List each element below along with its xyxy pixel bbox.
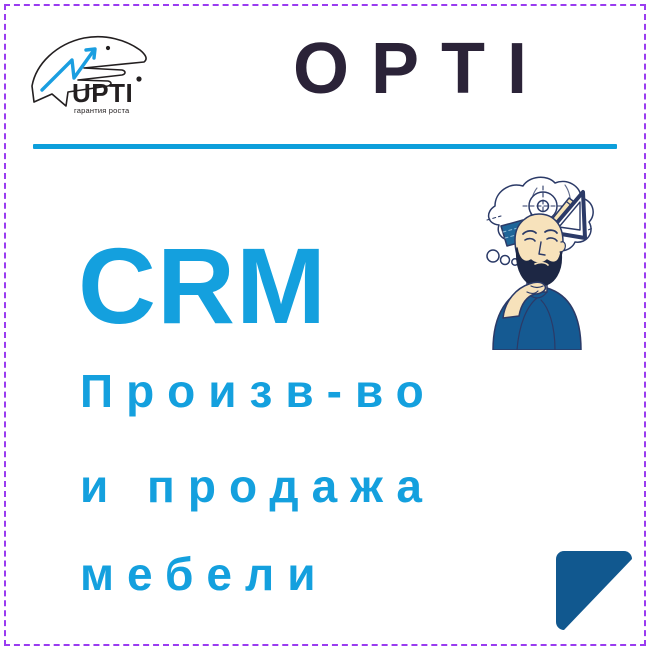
thinking-man-illustration <box>443 168 625 350</box>
thought-bubble-dot-1 <box>487 250 499 262</box>
bird-outline-logo: UPTI гарантия роста <box>22 24 162 116</box>
subline-3: мебели <box>80 551 329 597</box>
thought-bubble-dot-2 <box>501 256 510 265</box>
slide-canvas: UPTI гарантия роста OPTI CRM Произв-во и… <box>0 0 650 650</box>
opti-logo[interactable]: UPTI гарантия роста <box>22 24 162 116</box>
subline-2: и продажа <box>80 463 435 509</box>
logo-tagline: гарантия роста <box>74 106 130 115</box>
subline-1: Произв-во <box>80 368 437 414</box>
headline-crm: CRM <box>78 232 327 340</box>
man-sweater <box>493 288 581 350</box>
logo-wordmark: UPTI <box>72 78 133 108</box>
blue-corner-triangle <box>556 551 632 630</box>
page-title: OPTI <box>200 26 620 112</box>
header-divider <box>33 144 617 149</box>
header: UPTI гарантия роста OPTI <box>0 0 650 135</box>
